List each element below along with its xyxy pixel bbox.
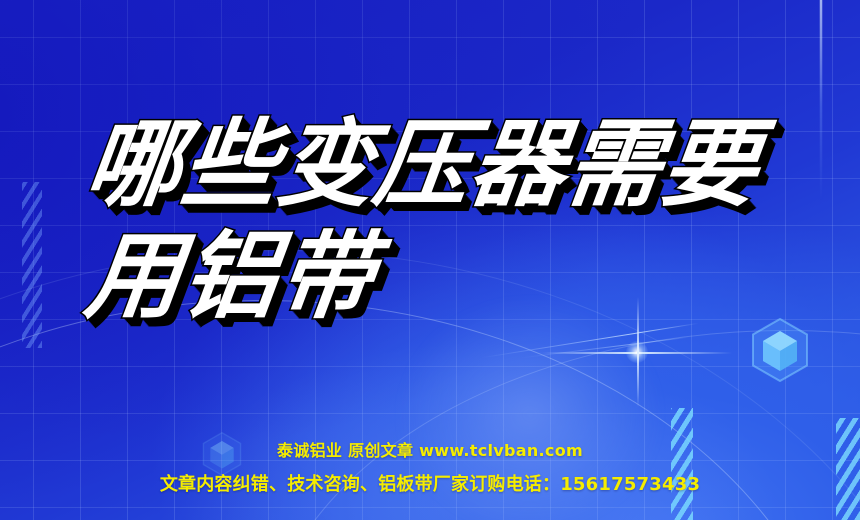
footer-contact-line: 文章内容纠错、技术咨询、铝板带厂家订购电话：15617573433 — [0, 470, 860, 496]
poster-canvas: 哪些变压器需要 用铝带 泰诚铝业 原创文章 www.tclvban.com 文章… — [0, 0, 860, 520]
diagonal-stripes-left — [22, 182, 42, 348]
sparkle-core — [626, 341, 648, 363]
footer-source-line: 泰诚铝业 原创文章 www.tclvban.com — [0, 437, 860, 461]
headline-line-2: 用铝带 — [80, 224, 813, 330]
headline-block: 哪些变压器需要 用铝带 — [80, 112, 800, 331]
footer-block: 泰诚铝业 原创文章 www.tclvban.com 文章内容纠错、技术咨询、铝板… — [0, 437, 860, 496]
headline-line-1: 哪些变压器需要 — [80, 112, 813, 218]
light-streak-vertical — [820, 0, 822, 200]
